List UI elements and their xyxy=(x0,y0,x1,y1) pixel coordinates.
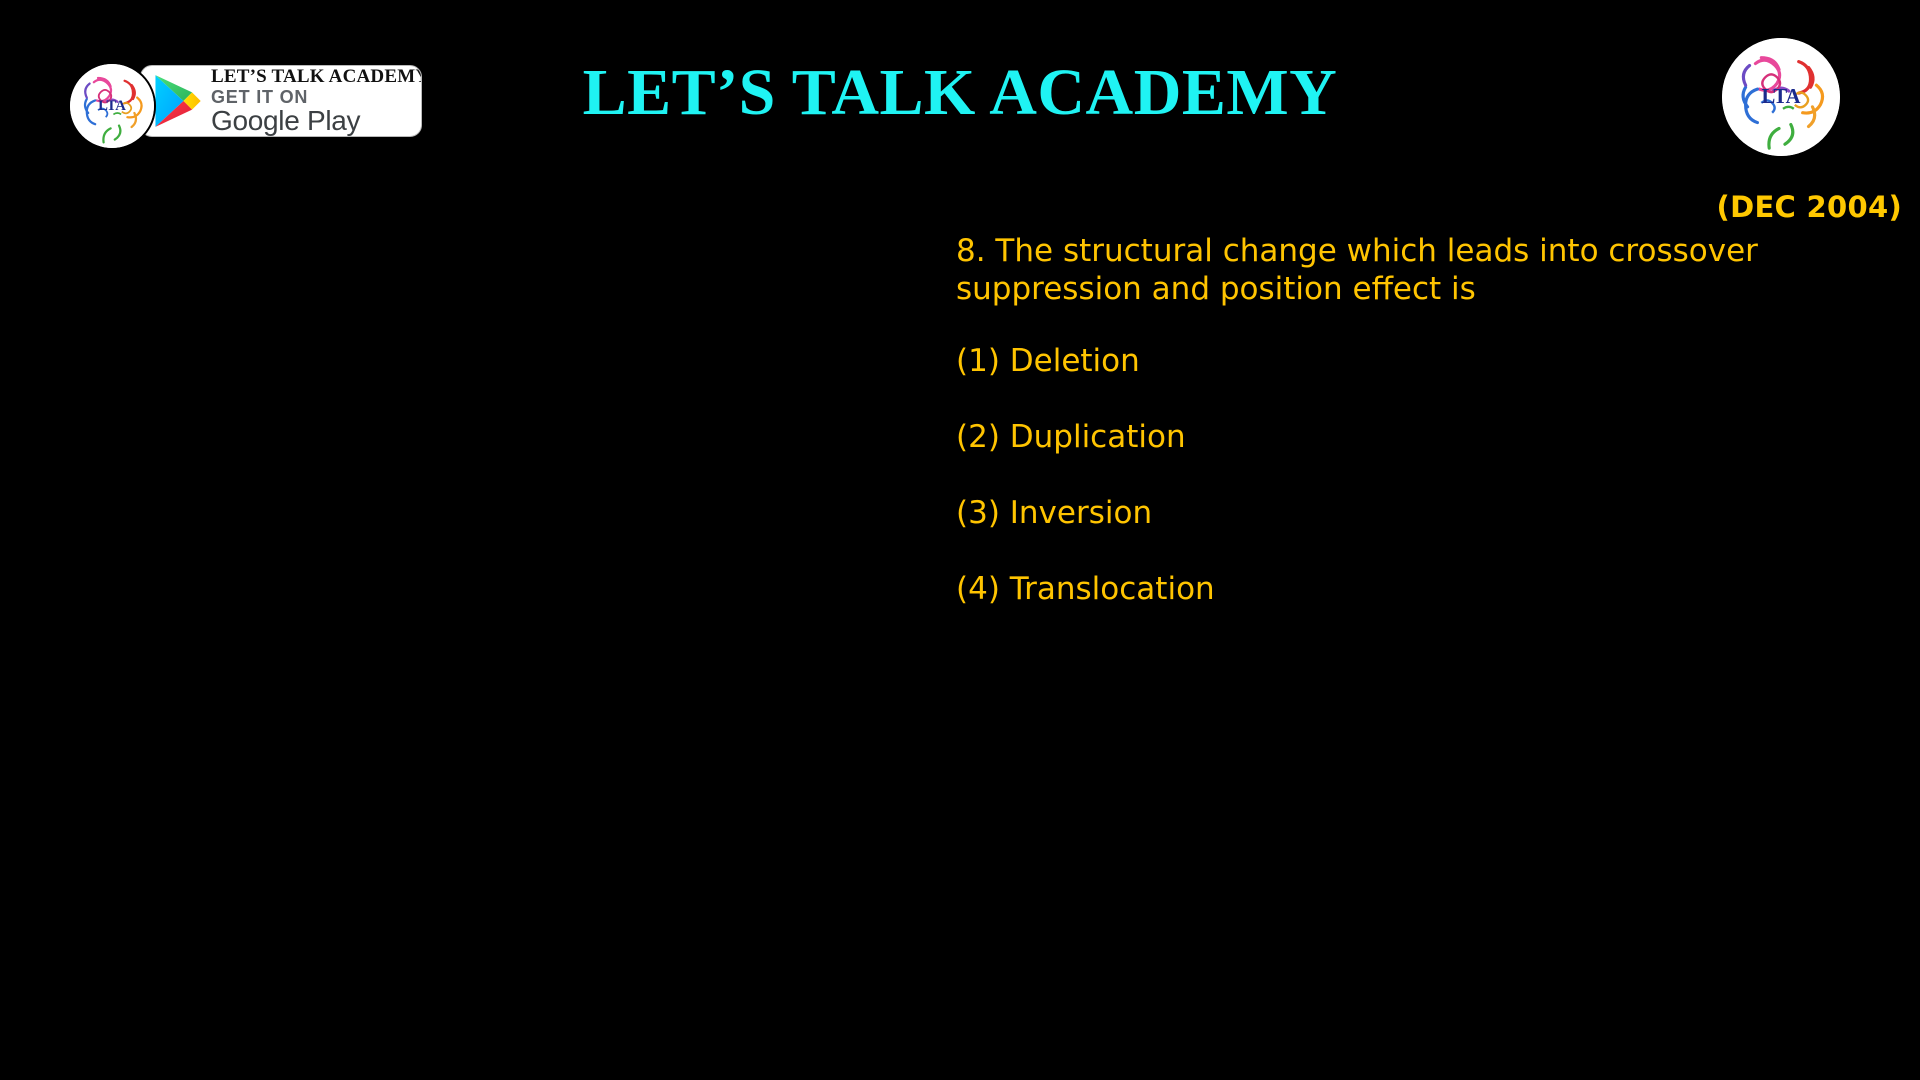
lta-logo-left: LTA xyxy=(68,62,156,150)
lta-logo-right: LTA xyxy=(1722,38,1840,156)
protein-ribbon-icon: LTA xyxy=(1722,38,1840,156)
page-title: LET’S TALK ACADEMY xyxy=(0,58,1920,127)
protein-ribbon-icon: LTA xyxy=(70,64,154,148)
option-item-4[interactable]: (4) Translocation xyxy=(956,571,1876,608)
lta-initials: LTA xyxy=(1761,86,1800,108)
option-item-3[interactable]: (3) Inversion xyxy=(956,495,1876,532)
option-item-2[interactable]: (2) Duplication xyxy=(956,419,1876,456)
options-list: (1) Deletion (2) Duplication (3) Inversi… xyxy=(956,343,1876,609)
slide-canvas: LET’S TALK ACADEMY GET IT ON Google Play xyxy=(0,0,1920,1080)
question-text: 8. The structural change which leads int… xyxy=(956,233,1876,309)
option-item-1[interactable]: (1) Deletion xyxy=(956,343,1876,380)
question-block: 8. The structural change which leads int… xyxy=(956,233,1876,608)
lta-initials: LTA xyxy=(98,98,126,114)
exam-date-tag: (DEC 2004) xyxy=(1717,190,1902,224)
